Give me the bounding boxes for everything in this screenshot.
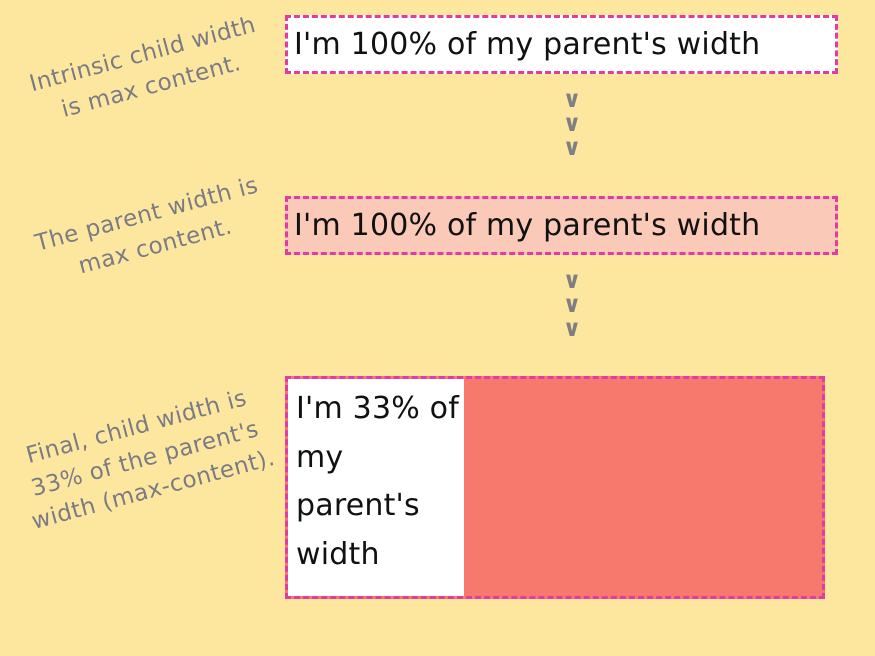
annotation-intrinsic-child-width: Intrinsic child width is max content.: [18, 7, 276, 135]
box-final-child-label: I'm 33% of my parent's width: [296, 385, 460, 579]
arrow-group-intrinsic-to-parent: ∨ ∨ ∨: [552, 88, 592, 160]
box-final-child: I'm 33% of my parent's width: [288, 379, 464, 596]
box-parent-max-content: I'm 100% of my parent's width: [285, 196, 838, 255]
annotation-final-child-width: Final, child width is 33% of the parent'…: [6, 378, 284, 540]
chevron-down-icon: ∨: [552, 88, 592, 112]
chevron-down-icon: ∨: [552, 136, 592, 160]
chevron-down-icon: ∨: [552, 269, 592, 293]
box-final-parent: I'm 33% of my parent's width: [285, 376, 825, 599]
box-intrinsic-child: I'm 100% of my parent's width: [285, 15, 838, 74]
annotation-parent-width: The parent width is max content.: [18, 166, 284, 296]
chevron-down-icon: ∨: [552, 112, 592, 136]
diagram-canvas: Intrinsic child width is max content. Th…: [0, 0, 875, 656]
box-intrinsic-child-label: I'm 100% of my parent's width: [294, 30, 760, 60]
chevron-down-icon: ∨: [552, 317, 592, 341]
arrow-group-parent-to-final: ∨ ∨ ∨: [552, 269, 592, 341]
chevron-down-icon: ∨: [552, 293, 592, 317]
box-parent-label: I'm 100% of my parent's width: [294, 211, 760, 241]
